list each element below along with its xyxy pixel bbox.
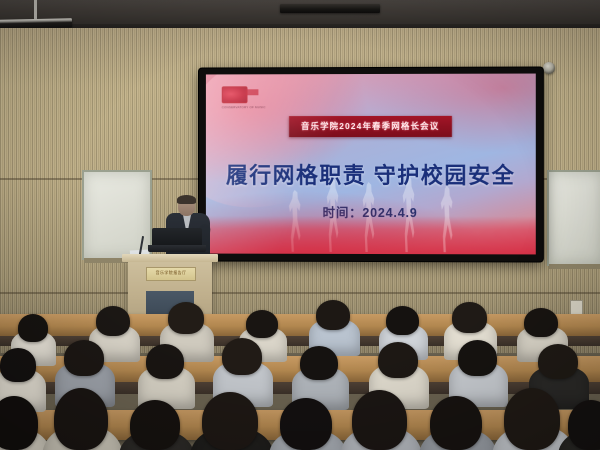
audience-person-head	[430, 396, 482, 450]
podium-sign: 音乐学院报告厅	[146, 267, 196, 281]
audience-seating	[0, 300, 600, 450]
projection-display: CONSERVATORY OF MUSIC 音乐学院2024年春季网格长会议 履…	[199, 67, 543, 261]
music-college-emblem-icon	[222, 86, 248, 103]
audience-person-head	[300, 346, 338, 380]
slide-date-line: 时间：2024.4.9	[323, 202, 418, 221]
slide-logo: CONSERVATORY OF MUSIC	[222, 86, 260, 116]
slide-banner-title: 音乐学院2024年春季网格长会议	[301, 120, 439, 132]
slide-red-footer-band	[206, 216, 536, 255]
audience-person-head	[386, 306, 419, 335]
podium-laptop	[148, 228, 206, 254]
audience-person-head	[64, 340, 104, 376]
audience-person-head	[130, 400, 180, 450]
presentation-slide: CONSERVATORY OF MUSIC 音乐学院2024年春季网格长会议 履…	[206, 74, 536, 255]
audience-person-head	[538, 344, 578, 379]
audience-person-head	[458, 340, 497, 376]
audience-person-head	[246, 310, 278, 338]
audience-person-head	[452, 302, 487, 333]
lecture-hall-photo: CONSERVATORY OF MUSIC 音乐学院2024年春季网格长会议 履…	[0, 0, 600, 450]
audience-person-head	[352, 390, 407, 450]
laptop-keyboard	[148, 245, 206, 252]
speaker-hair	[177, 195, 196, 204]
wall-sensor-icon	[543, 62, 555, 74]
audience-person-head	[96, 306, 130, 336]
slide-banner: 音乐学院2024年春季网格长会议	[289, 116, 451, 137]
audience-person-head	[316, 300, 350, 330]
audience-person-head	[504, 388, 560, 450]
audience-person-head	[168, 302, 204, 334]
slide-headline: 履行网格职责 守护校园安全	[226, 158, 516, 190]
audience-person-head	[0, 348, 36, 382]
audience-person-head	[202, 392, 258, 450]
audience-person-head	[222, 338, 262, 375]
audience-person-head	[524, 308, 558, 337]
podium-top-surface	[122, 254, 218, 262]
wall-seam-lower	[0, 292, 600, 294]
ceiling-light-bar-center	[280, 4, 380, 13]
audience-person-head	[280, 398, 332, 450]
audience-person-head	[568, 400, 600, 450]
audience-person-head	[18, 314, 48, 342]
audience-person-head	[378, 342, 418, 378]
podium-sign-text: 音乐学院报告厅	[147, 268, 195, 278]
audience-person-head	[146, 344, 184, 379]
whiteboard-tray-right	[549, 264, 600, 269]
slide-logo-subtitle: CONSERVATORY OF MUSIC	[222, 105, 260, 109]
whiteboard-right	[547, 170, 600, 266]
laptop-screen	[152, 228, 202, 246]
audience-person-head	[54, 388, 108, 450]
